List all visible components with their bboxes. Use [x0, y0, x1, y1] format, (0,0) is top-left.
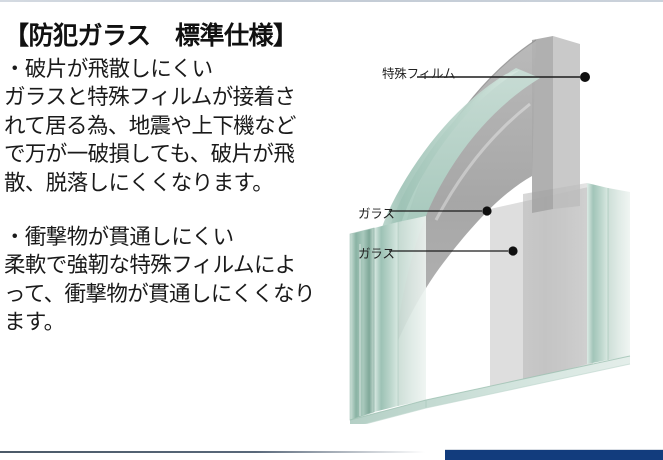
leader-dot-glass-outer: [482, 206, 491, 215]
top-divider: [0, 0, 663, 2]
diagram-label-glass-inner: ガラス: [358, 243, 395, 262]
glass-right-edge: [587, 183, 630, 364]
page-title: 【防犯ガラス 標準仕様】: [4, 22, 334, 50]
glass-pane-body: [490, 183, 593, 386]
feature-paragraph-shatter-resistance: ・破片が飛散しにくい ガラスと特殊フィルムが接着さ れて居る為、地震や上下機など…: [4, 56, 334, 198]
leader-dot-glass-inner: [508, 246, 517, 255]
diagram-label-special-film: 特殊フィルム: [382, 63, 455, 82]
slide-canvas: 【防犯ガラス 標準仕様】 ・破片が飛散しにくい ガラスと特殊フィルムが接着さ れ…: [0, 0, 663, 460]
security-glass-diagram: [340, 34, 663, 424]
feature-paragraph-penetration-resistance: ・衝撃物が貫通しにくい 柔軟で強靭な特殊フィルムによ って、衝撃物が貫通しにくく…: [4, 224, 334, 338]
footer-divider: [0, 451, 425, 453]
footer-accent-bar: [445, 450, 663, 460]
diagram-label-glass-outer: ガラス: [358, 203, 395, 222]
glass-upper-panel: [532, 36, 580, 213]
text-column: 【防犯ガラス 標準仕様】 ・破片が飛散しにくい ガラスと特殊フィルムが接着さ れ…: [4, 22, 334, 337]
leader-dot-film: [580, 72, 590, 82]
